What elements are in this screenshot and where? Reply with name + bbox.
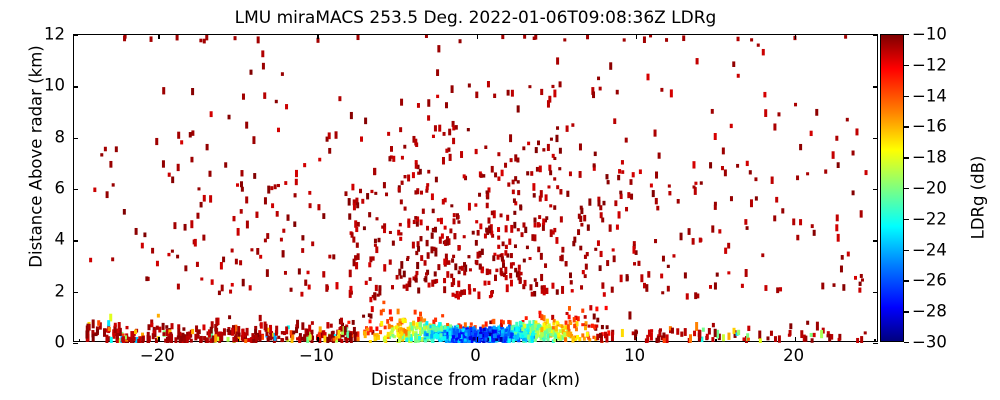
x-tick-top	[158, 34, 159, 39]
colorbar-tick-label: −22	[912, 209, 947, 228]
y-tick-right	[873, 343, 878, 344]
colorbar-tick-label: −20	[912, 179, 947, 198]
x-tick-minor	[238, 339, 239, 342]
y-tick	[73, 240, 78, 241]
y-tick	[73, 86, 78, 87]
colorbar-tick-label: −24	[912, 240, 947, 259]
x-tick-top	[795, 34, 796, 39]
colorbar-tick	[904, 34, 909, 35]
radar-figure: LMU miraMACS 253.5 Deg. 2022-01-06T09:08…	[0, 0, 1000, 400]
x-tick-label: −10	[299, 346, 334, 365]
colorbar-tick-label: −16	[912, 117, 947, 136]
colorbar-tick-label: −10	[912, 25, 947, 44]
x-tick-minor	[79, 339, 80, 342]
colorbar-tick	[904, 219, 909, 220]
colorbar-tick-label: −12	[912, 55, 947, 74]
colorbar-tick	[904, 250, 909, 251]
y-tick-right	[873, 189, 878, 190]
y-tick-label: 0	[20, 333, 65, 352]
x-axis-label: Distance from radar (km)	[73, 370, 878, 389]
x-tick-label: 10	[624, 346, 645, 365]
x-tick-minor	[397, 339, 398, 342]
x-tick-minor	[715, 339, 716, 342]
y-tick-right	[873, 240, 878, 241]
page-title: LMU miraMACS 253.5 Deg. 2022-01-06T09:08…	[73, 8, 878, 28]
x-tick-label: 20	[783, 346, 804, 365]
y-tick	[73, 35, 78, 36]
colorbar-tick-label: −18	[912, 148, 947, 167]
x-tick	[158, 337, 159, 342]
y-tick-right	[873, 86, 878, 87]
y-tick-right	[873, 138, 878, 139]
x-tick-label: −20	[140, 346, 175, 365]
x-tick-minor	[874, 339, 875, 342]
x-tick-top	[317, 34, 318, 39]
y-tick	[73, 343, 78, 344]
colorbar-gradient	[880, 34, 904, 342]
colorbar-tick	[904, 96, 909, 97]
colorbar-tick	[904, 65, 909, 66]
colorbar-tick-label: −28	[912, 302, 947, 321]
colorbar-container: −10−12−14−16−18−20−22−24−26−28−30	[880, 34, 904, 342]
y-tick	[73, 189, 78, 190]
x-tick	[477, 337, 478, 342]
plot-axes	[73, 34, 878, 342]
y-tick	[73, 292, 78, 293]
x-tick-label: 0	[470, 346, 481, 365]
x-tick	[795, 337, 796, 342]
colorbar-label: LDRg (dB)	[969, 58, 988, 338]
colorbar-tick-label: −26	[912, 271, 947, 290]
colorbar-tick	[904, 126, 909, 127]
colorbar-tick	[904, 157, 909, 158]
colorbar-tick-label: −14	[912, 86, 947, 105]
scatter-canvas	[74, 35, 879, 343]
x-tick-top	[477, 34, 478, 39]
x-tick	[317, 337, 318, 342]
x-tick-minor	[556, 339, 557, 342]
colorbar-tick	[904, 188, 909, 189]
y-tick	[73, 138, 78, 139]
y-axis-label: Distance Above radar (km)	[27, 17, 46, 297]
colorbar-tick	[904, 311, 909, 312]
y-tick-right	[873, 35, 878, 36]
y-tick-right	[873, 292, 878, 293]
x-tick	[636, 337, 637, 342]
colorbar-tick	[904, 342, 909, 343]
colorbar-tick-label: −30	[912, 333, 947, 352]
x-tick-top	[636, 34, 637, 39]
colorbar-tick	[904, 280, 909, 281]
